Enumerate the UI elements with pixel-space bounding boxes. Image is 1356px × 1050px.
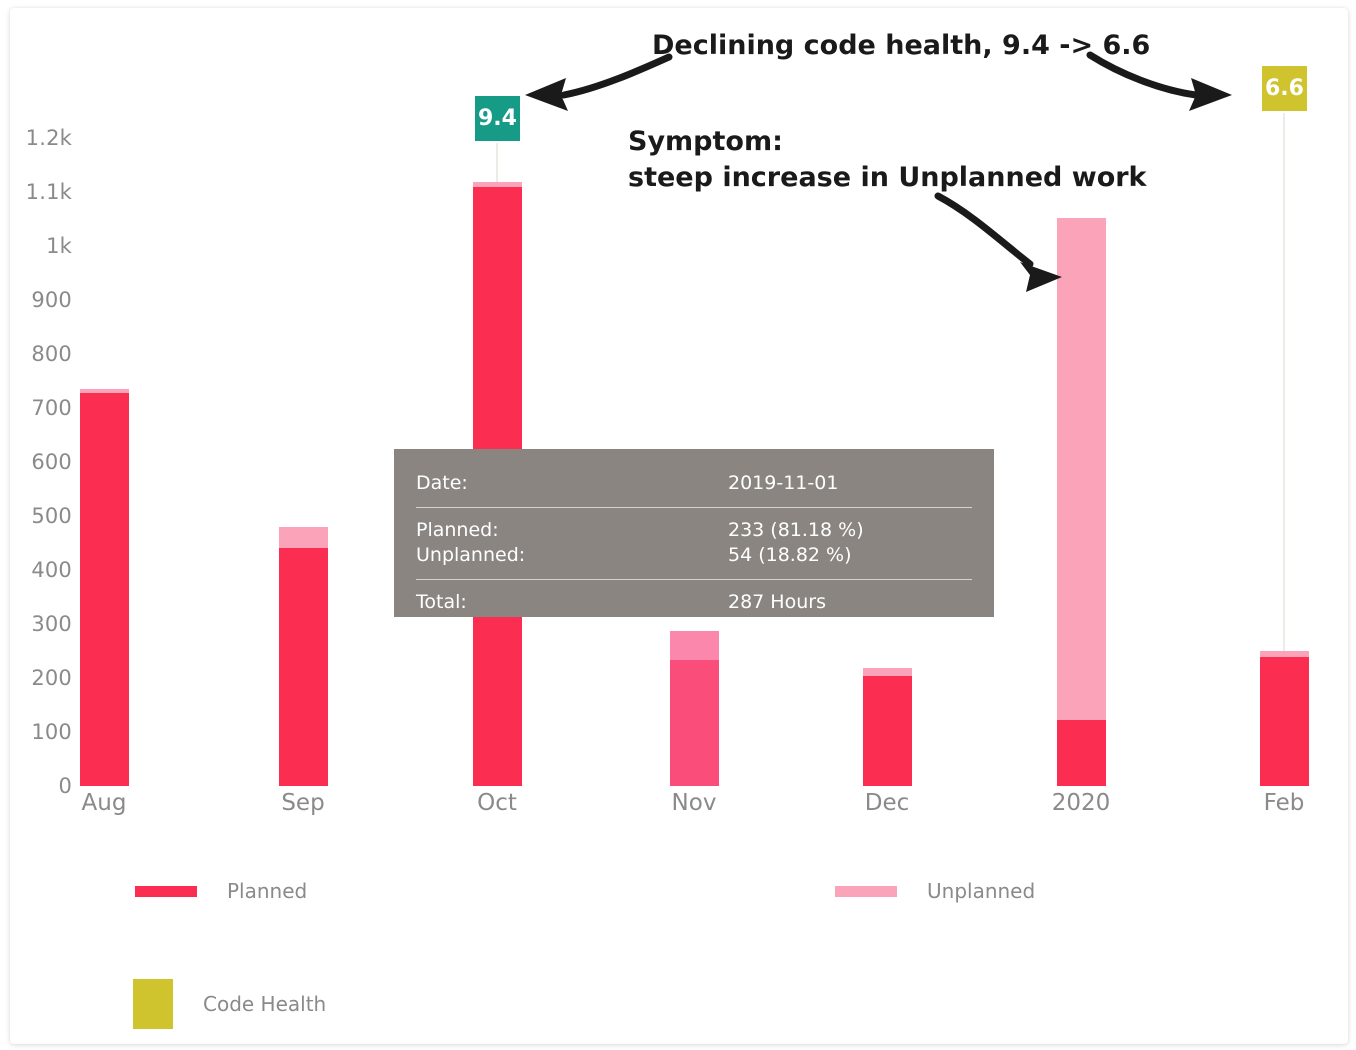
y-tick-100: 100 [2,720,72,744]
y-tick-800: 800 [2,342,72,366]
x-tick-2020: 2020 [1011,786,1151,816]
tooltip-divider-bottom [416,579,972,580]
tooltip-planned-label: Planned: [416,518,728,543]
legend-label-planned: Planned [227,879,307,903]
code-health-badge-oct[interactable]: 9.4 [473,94,522,143]
annotation-symptom-line1: Symptom: [628,126,783,157]
legend-item-planned[interactable]: Planned [135,879,307,903]
tooltip-unplanned-value: 54 (18.82 %) [728,543,852,568]
tooltip-total-row: Total: 287 Hours [416,590,972,615]
annotation-symptom-line2: steep increase in Unplanned work [628,162,1147,193]
bar-planned-aug[interactable] [80,393,129,786]
y-tick-700: 700 [2,396,72,420]
bar-unplanned-sep[interactable] [279,527,328,549]
x-tick-dec: Dec [817,786,957,816]
bar-unplanned-aug[interactable] [80,389,129,393]
y-tick-400: 400 [2,558,72,582]
y-tick-300: 300 [2,612,72,636]
tooltip-unplanned-row: Unplanned: 54 (18.82 %) [416,543,972,568]
tooltip-unplanned-label: Unplanned: [416,543,728,568]
bar-unplanned-dec[interactable] [863,668,912,676]
bar-planned-feb[interactable] [1260,657,1309,786]
y-tick-1200: 1.2k [2,126,72,150]
y-tick-900: 900 [2,288,72,312]
y-tick-200: 200 [2,666,72,690]
y-tick-1100: 1.1k [2,180,72,204]
code-health-badge-feb[interactable]: 6.6 [1260,64,1309,113]
code-health-stem-oct [496,143,498,182]
chart-plot-area: 1.2k 1.1k 1k 900 800 700 600 500 400 300… [0,0,1356,1050]
x-tick-sep: Sep [233,786,373,816]
bar-planned-sep[interactable] [279,548,328,786]
legend-label-unplanned: Unplanned [927,879,1035,903]
annotation-symptom: Symptom: steep increase in Unplanned wor… [628,124,1147,196]
legend-label-code-health: Code Health [203,992,326,1016]
bar-unplanned-feb[interactable] [1260,651,1309,657]
tooltip-total-value: 287 Hours [728,590,826,615]
x-tick-nov: Nov [624,786,764,816]
tooltip-planned-value: 233 (81.18 %) [728,518,864,543]
y-axis: 1.2k 1.1k 1k 900 800 700 600 500 400 300… [0,0,72,1050]
legend-swatch-unplanned-icon [835,886,897,897]
legend-swatch-code-health-icon [133,979,173,1029]
annotation-declining-code-health: Declining code health, 9.4 -> 6.6 [652,30,1150,61]
tooltip-date-label: Date: [416,471,728,496]
tooltip-date-value: 2019-11-01 [728,471,838,496]
bar-planned-nov[interactable] [670,660,719,786]
bar-unplanned-nov[interactable] [670,631,719,660]
bar-tooltip: Date: 2019-11-01 Planned: 233 (81.18 %) … [394,449,994,617]
bar-planned-dec[interactable] [863,676,912,786]
y-tick-600: 600 [2,450,72,474]
legend-swatch-planned-icon [135,886,197,897]
legend-item-code-health[interactable]: Code Health [133,979,326,1029]
x-tick-aug: Aug [34,786,174,816]
tooltip-planned-row: Planned: 233 (81.18 %) [416,518,972,543]
x-tick-feb: Feb [1214,786,1354,816]
chart-page: 1.2k 1.1k 1k 900 800 700 600 500 400 300… [0,0,1356,1050]
tooltip-total-label: Total: [416,590,728,615]
bar-unplanned-2020[interactable] [1057,218,1106,720]
y-tick-1000: 1k [2,234,72,258]
tooltip-divider-top [416,507,972,508]
tooltip-date-row: Date: 2019-11-01 [416,471,972,496]
legend-item-unplanned[interactable]: Unplanned [835,879,1035,903]
bar-planned-2020[interactable] [1057,720,1106,786]
y-tick-500: 500 [2,504,72,528]
x-tick-oct: Oct [427,786,567,816]
bar-unplanned-oct[interactable] [473,182,522,187]
code-health-stem-feb [1283,113,1285,651]
